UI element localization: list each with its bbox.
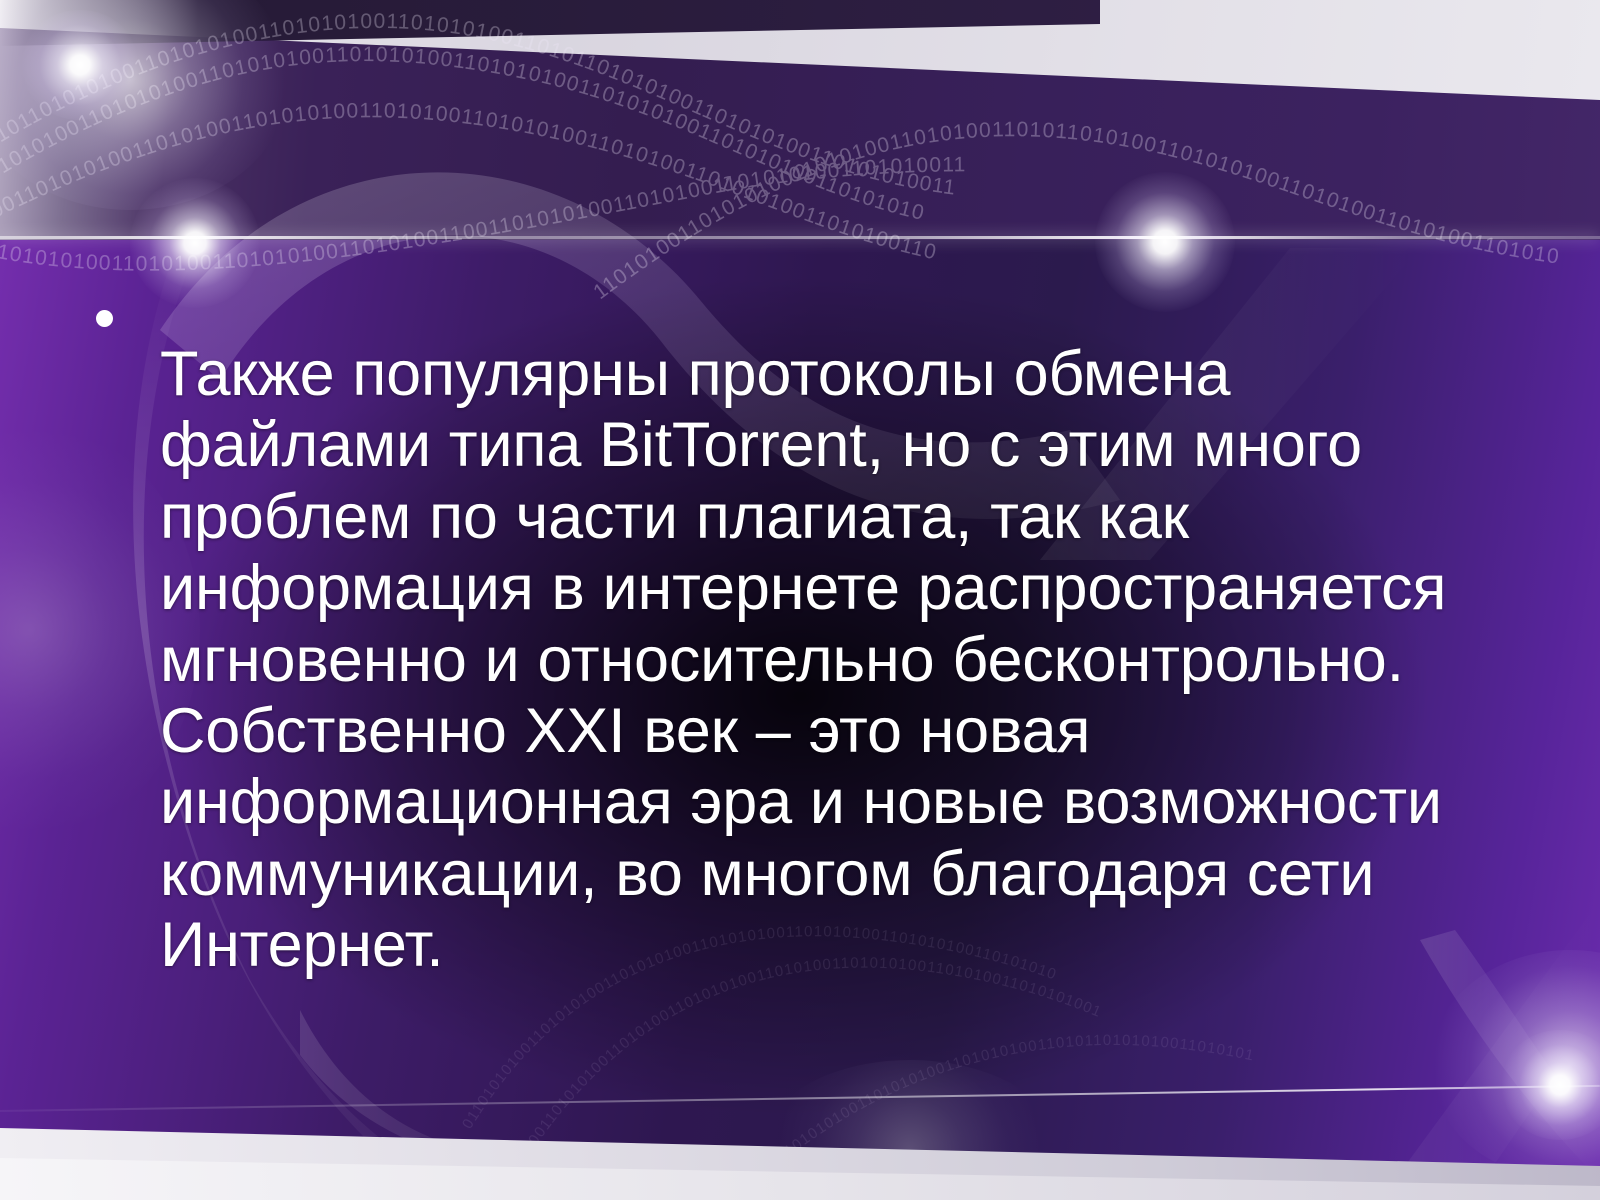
- header-divider-line: [0, 236, 1600, 239]
- bullet-point-icon: [96, 310, 113, 327]
- slide-content-placeholder: Также популярны протоколы обмена файлами…: [96, 276, 1516, 1044]
- presentation-slide: 0110101010011010101001101010100110101010…: [0, 0, 1600, 1200]
- bullet-list-item: Также популярны протоколы обмена файлами…: [96, 276, 1516, 1044]
- bullet-body-text: Также популярны протоколы обмена файлами…: [160, 339, 1516, 981]
